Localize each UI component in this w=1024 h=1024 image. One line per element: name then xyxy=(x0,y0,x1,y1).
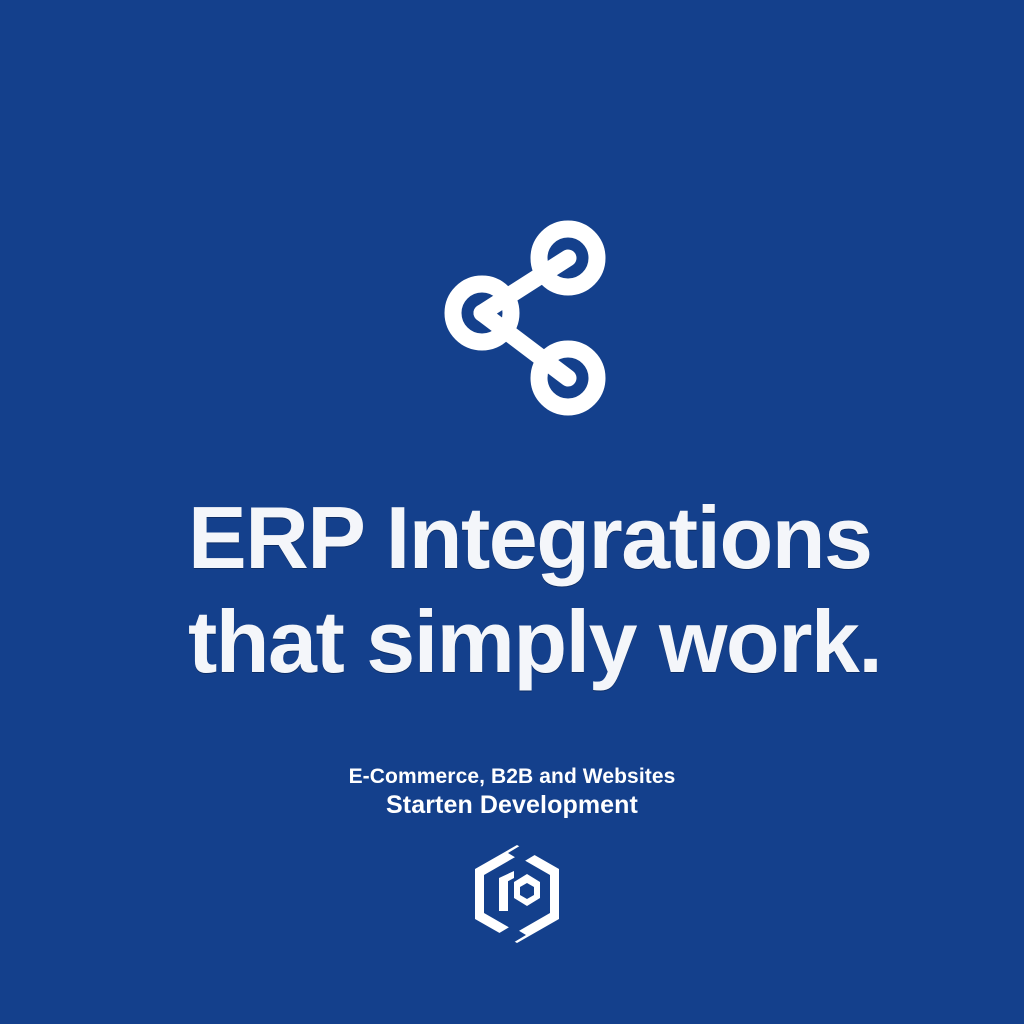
promo-card: ERP Integrations that simply work. E-Com… xyxy=(0,0,1024,1024)
subtitle-block: E-Commerce, B2B and Websites Starten Dev… xyxy=(0,763,1024,821)
starten-hexagon-monogram-logo xyxy=(468,843,566,945)
headline-line-2: that simply work. xyxy=(188,590,968,694)
subtitle-secondary: Starten Development xyxy=(0,790,1024,821)
subtitle-primary: E-Commerce, B2B and Websites xyxy=(0,763,1024,790)
headline: ERP Integrations that simply work. xyxy=(188,486,968,694)
share-network-icon xyxy=(420,200,620,430)
headline-line-1: ERP Integrations xyxy=(188,486,968,590)
